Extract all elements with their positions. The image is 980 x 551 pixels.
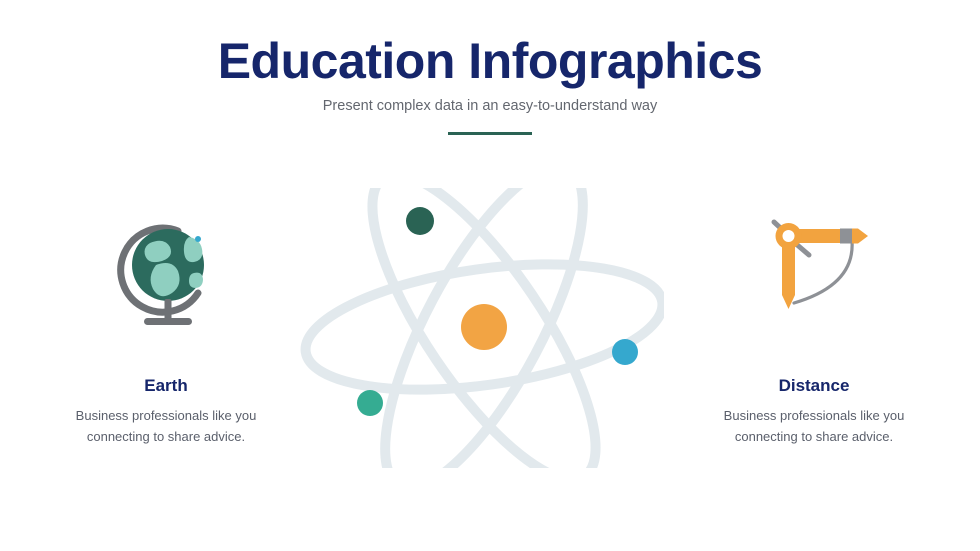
feature-column-earth: Earth Business professionals like you co…: [36, 210, 296, 447]
atom-electron-right: [612, 339, 638, 365]
feature-description-distance: Business professionals like you connecti…: [707, 406, 922, 446]
slide-canvas: Education Infographics Present complex d…: [0, 0, 980, 551]
globe-icon: [106, 215, 226, 335]
title-divider: [448, 132, 532, 135]
compass-icon-wrap: [684, 210, 944, 340]
feature-title-earth: Earth: [36, 376, 296, 396]
header: Education Infographics Present complex d…: [0, 34, 980, 135]
feature-description-earth: Business professionals like you connecti…: [59, 406, 274, 446]
feature-title-distance: Distance: [684, 376, 944, 396]
feature-column-distance: Distance Business professionals like you…: [684, 210, 944, 447]
compass-icon: [754, 215, 874, 335]
atom-electron-bottom-left: [357, 390, 383, 416]
atom-nucleus: [461, 304, 507, 350]
atom-illustration: [296, 188, 664, 468]
page-subtitle: Present complex data in an easy-to-under…: [0, 98, 980, 115]
atom-electron-top-left: [406, 207, 434, 235]
page-title: Education Infographics: [0, 34, 980, 88]
globe-icon-wrap: [36, 210, 296, 340]
